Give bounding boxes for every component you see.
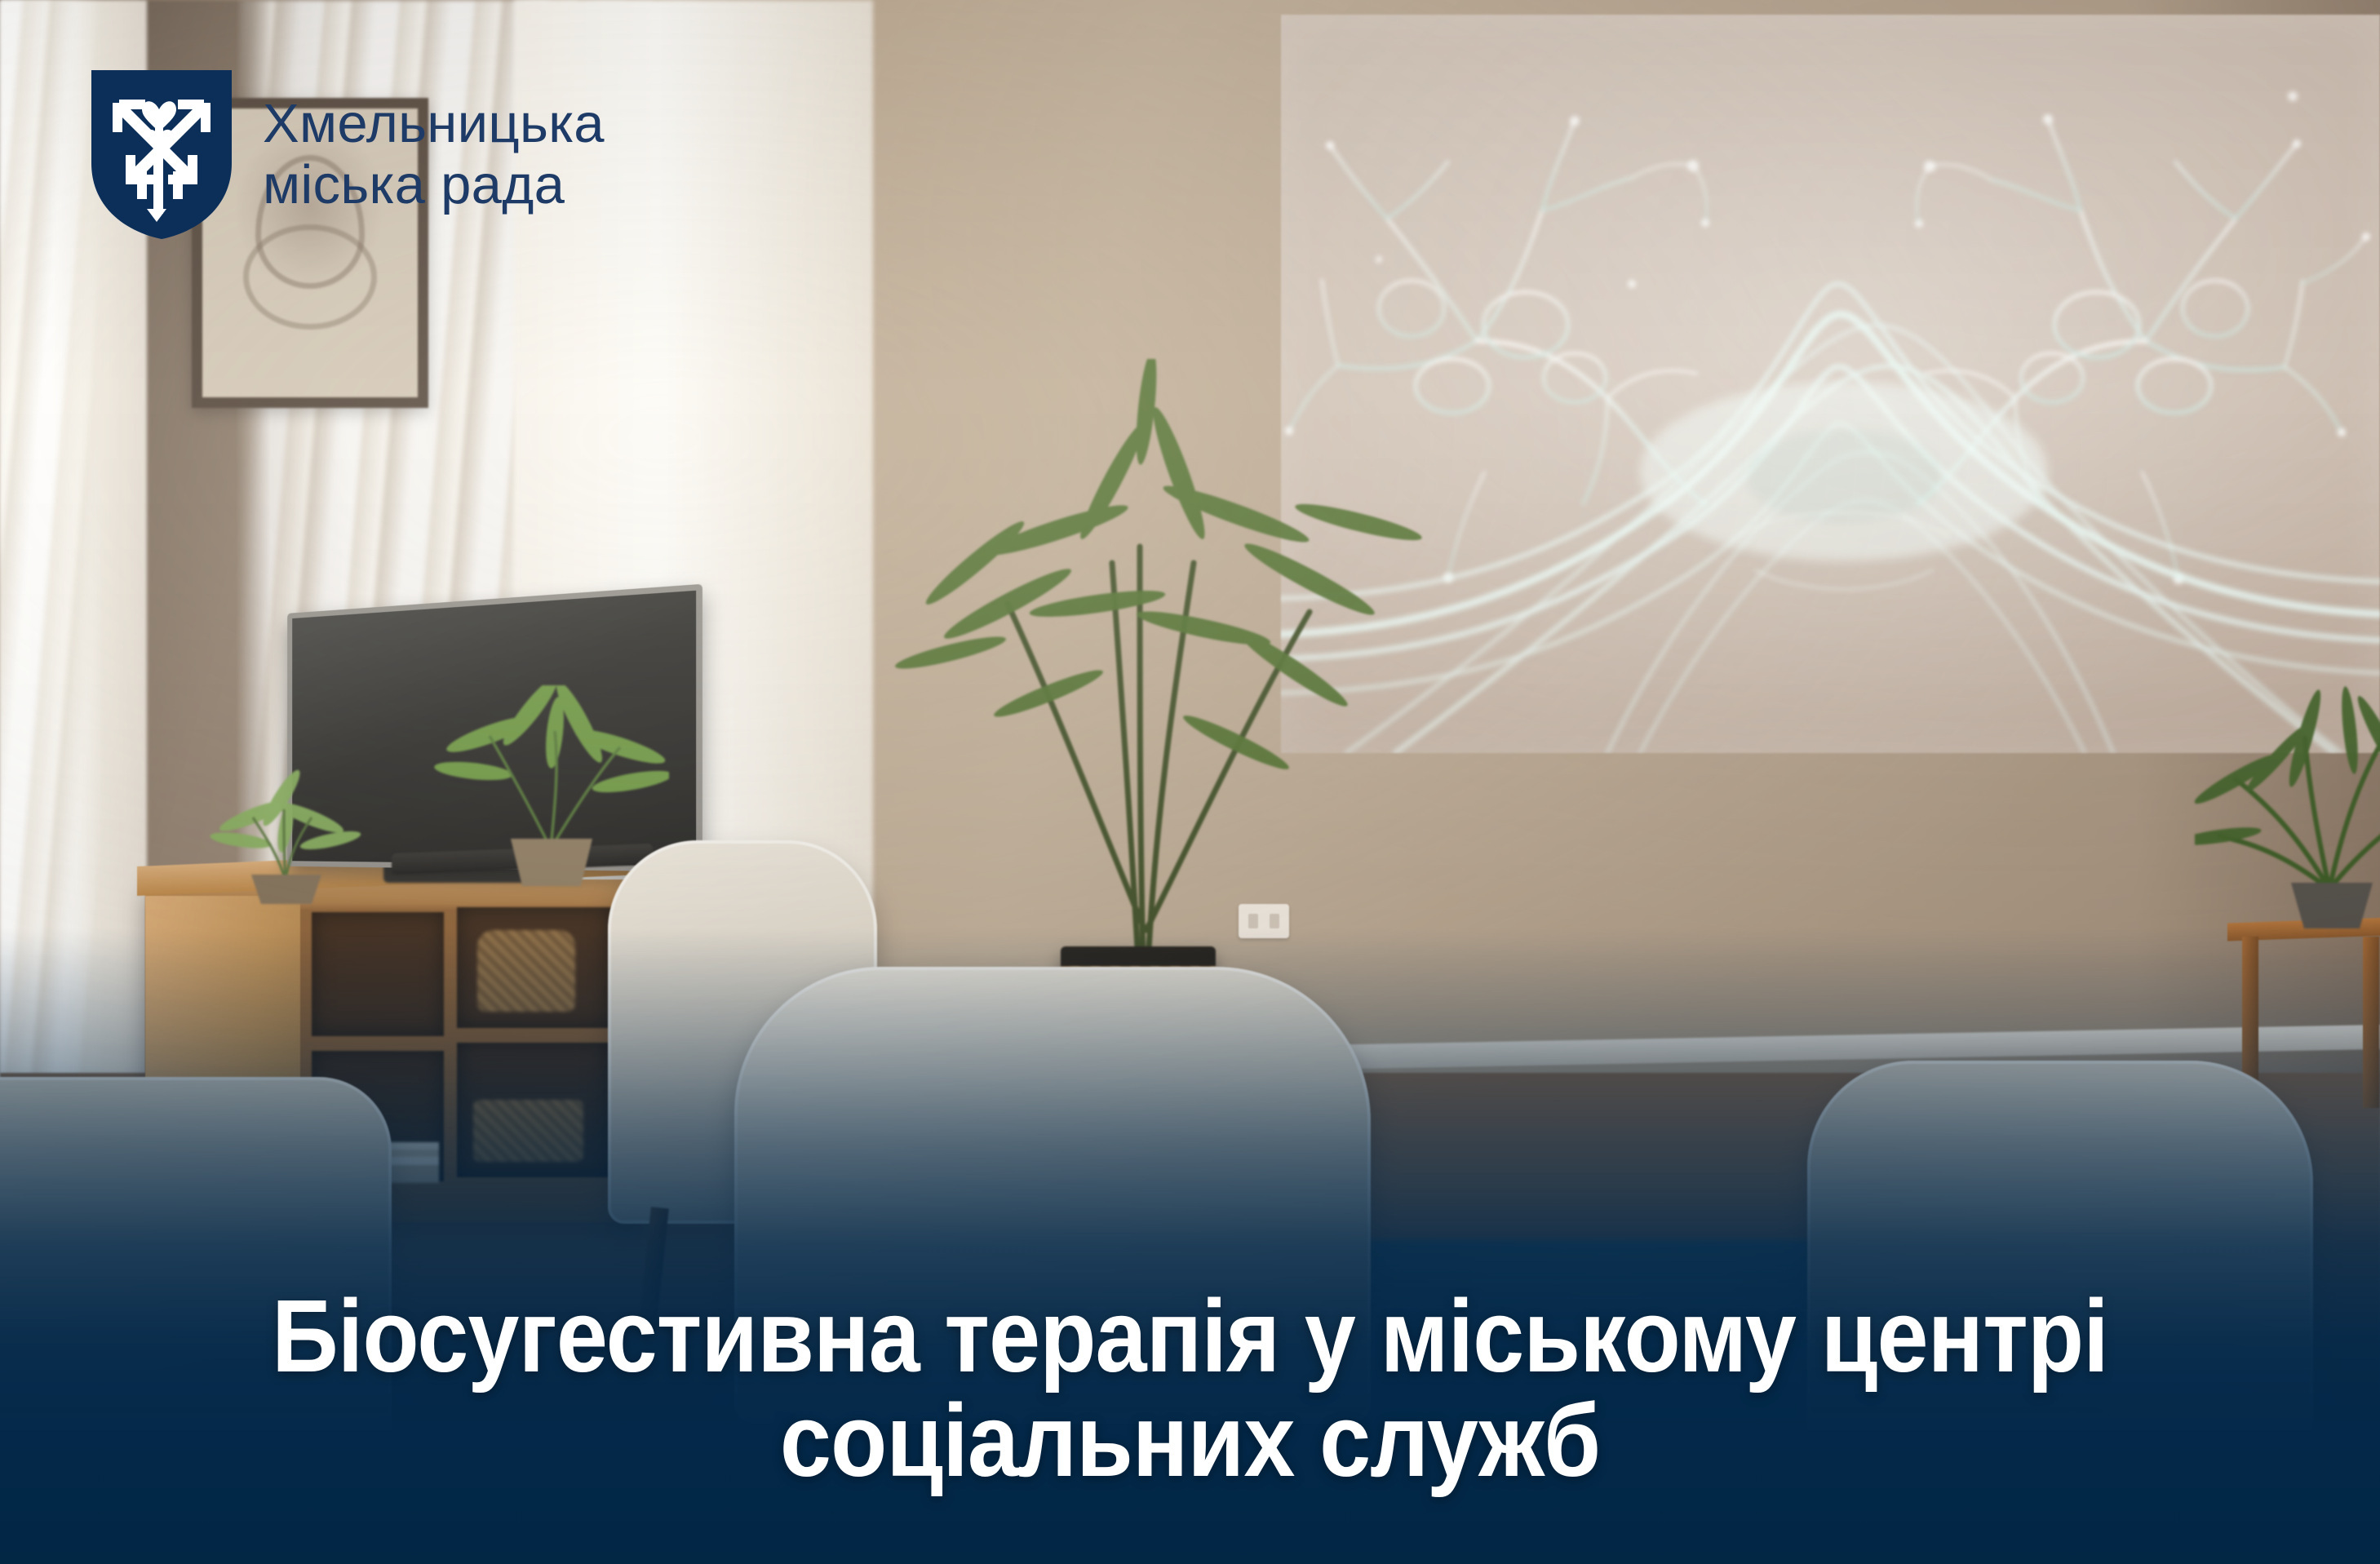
neuron-wave-visualisation	[1281, 15, 2380, 753]
logo-line-1: Хмельницька	[263, 94, 605, 154]
caption-line-2: соціальних служб	[207, 1389, 2173, 1494]
city-council-logo[interactable]: Хмельницька міська рада	[88, 67, 605, 242]
coat-of-arms-shield-icon	[88, 67, 235, 242]
logo-line-2: міська рада	[263, 155, 605, 215]
potted-plant-small	[204, 759, 375, 906]
tall-bamboo-plant	[853, 359, 1440, 963]
banner-canvas: Хмельницька міська рада Біосугестивна те…	[0, 0, 2380, 1564]
logo-wordmark: Хмельницька міська рада	[263, 94, 605, 215]
potted-fern	[432, 685, 669, 889]
potted-palm	[2195, 645, 2380, 930]
caption-text: Біосугестивна терапія у міському центрі …	[119, 1284, 2261, 1494]
caption-line-1: Біосугестивна терапія у міському центрі	[272, 1278, 2108, 1393]
